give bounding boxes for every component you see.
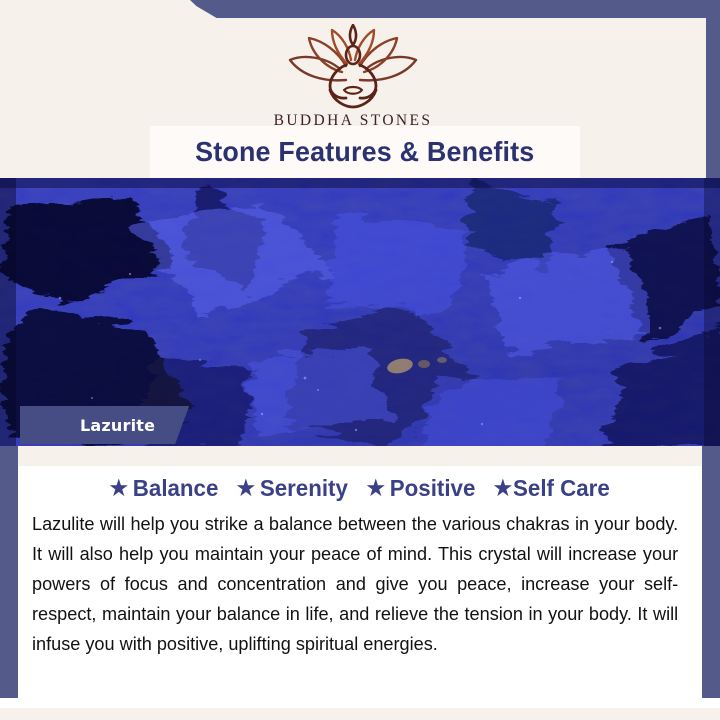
- stone-photo: [0, 178, 720, 446]
- benefit-positive: ★ Positive: [367, 475, 476, 502]
- bottom-cream-strip: [0, 708, 720, 720]
- benefit-label: Balance: [133, 475, 219, 502]
- stone-name: Lazurite: [80, 416, 155, 435]
- poster-card: BUDDHA STONES Stone Features & Benefits: [0, 0, 720, 720]
- star-icon: ★: [237, 478, 255, 499]
- stone-name-banner: Lazurite: [20, 406, 189, 444]
- content-top-strip: [18, 446, 702, 466]
- stone-description: Lazulite will help you strike a balance …: [32, 509, 678, 659]
- lazurite-texture: [0, 178, 720, 446]
- brand-logo: BUDDHA STONES: [0, 24, 706, 130]
- page-title-text: Stone Features & Benefits: [195, 136, 534, 168]
- benefit-label: Self Care: [513, 475, 610, 502]
- benefit-serenity: ★ Serenity: [237, 475, 348, 502]
- star-icon: ★: [367, 478, 385, 499]
- page-title: Stone Features & Benefits: [150, 126, 580, 178]
- star-icon: ★: [494, 478, 512, 499]
- content-panel: ★ Balance ★ Serenity ★ Positive ★ Self C…: [18, 466, 702, 698]
- benefit-self-care: ★ Self Care: [494, 475, 610, 502]
- benefit-balance: ★ Balance: [110, 475, 219, 502]
- lotus-meditation-icon: [268, 24, 438, 110]
- benefits-row: ★ Balance ★ Serenity ★ Positive ★ Self C…: [18, 466, 702, 502]
- corner-notch: [0, 0, 210, 19]
- benefit-label: Positive: [390, 475, 476, 502]
- star-icon: ★: [110, 478, 128, 499]
- benefit-label: Serenity: [260, 475, 348, 502]
